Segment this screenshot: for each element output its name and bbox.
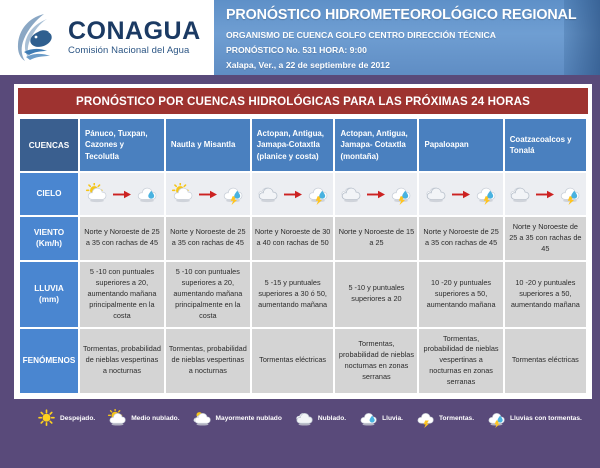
row-header-lluvia: LLUVIA(mm) [20,262,78,327]
organism-line: ORGANISMO DE CUENCA GOLFO CENTRO DIRECCI… [226,30,600,40]
legend-item: Lluvias con tormentas. [486,409,582,428]
column-header-basin-1: Pánuco, Tuxpan, Cazones y Tecolutla [80,119,164,171]
row-header-viento: VIENTO(Km/h) [20,217,78,260]
partly-sunny-icon [171,183,195,205]
data-cell-basin-4: Tormentas, probabilidad de nieblas noctu… [335,329,417,394]
corner-cell-cuencas: CUENCAS [20,119,78,171]
page-header: CONAGUA Comisión Nacional del Agua PRONÓ… [0,0,600,75]
legend-label: Medio nublado. [131,415,179,422]
sky-cell-basin-5 [419,173,502,215]
row-header-fenómenos: FENÓMENOS [20,329,78,394]
column-header-basin-2: Nautla y Misantla [166,119,250,171]
sky-cell-basin-3 [252,173,334,215]
data-cell-basin-6: 10 -20 y puntuales superiores a 50, aume… [505,262,586,327]
sky-cell-basin-1 [80,173,164,215]
rain-icon [135,183,159,205]
forecast-table: CUENCAS Pánuco, Tuxpan, Cazones y Tecolu… [18,117,588,395]
table-row: FENÓMENOSTormentas, probabilidad de nieb… [20,329,586,394]
table-row: CIELO [20,173,586,215]
band-title: PRONÓSTICO POR CUENCAS HIDROLÓGICAS PARA… [18,88,588,114]
data-cell-basin-2: Tormentas, probabilidad de nieblas vespe… [166,329,250,394]
conagua-logo: CONAGUA Comisión Nacional del Agua [0,0,214,75]
data-cell-basin-2: 5 -10 con puntuales superiores a 20, aum… [166,262,250,327]
transition-arrow-icon [112,190,132,199]
legend-label: Lluvias con tormentas. [510,415,582,422]
legend-item: Mayormente nublado [192,409,282,428]
legend-item: Nublado. [294,409,346,428]
sky-cell-basin-6 [505,173,586,215]
transition-arrow-icon [366,190,386,199]
table-row: LLUVIA(mm)5 -10 con puntuales superiores… [20,262,586,327]
cloudy-icon [508,183,532,205]
column-header-basin-4: Actopan, Antigua, Jamapa- Cotaxtla (mont… [335,119,417,171]
partly-sunny-icon [107,409,128,428]
storm-icon [221,183,245,205]
table-row: VIENTO(Km/h)Norte y Noroeste de 25 a 35 … [20,217,586,260]
storm-icon [486,409,507,428]
legend-label: Lluvia. [382,415,403,422]
legend-label: Tormentas. [439,415,474,422]
logo-wordmark: CONAGUA [68,19,201,44]
data-cell-basin-4: 5 -10 y puntuales superiores a 20 [335,262,417,327]
column-header-basin-3: Actopan, Antigua, Jamapa-Cotaxtla (plani… [252,119,334,171]
rain-icon [358,409,379,428]
data-cell-basin-1: Tormentas, probabilidad de nieblas vespe… [80,329,164,394]
conagua-emblem-icon [14,12,62,64]
cloudy-icon [424,183,448,205]
legend-label: Nublado. [318,415,346,422]
data-cell-basin-3: 5 -15 y puntuales superiores a 30 ó 50, … [252,262,334,327]
weather-legend: Despejado.Medio nublado.Mayormente nubla… [14,399,592,428]
forecast-number-line: PRONÓSTICO No. 531 HORA: 9:00 [226,45,600,55]
legend-label: Mayormente nublado [216,415,282,422]
legend-item: Medio nublado. [107,409,179,428]
place-date-line: Xalapa, Ver., a 22 de septiembre de 2012 [226,60,600,70]
data-cell-basin-5: 10 -20 y puntuales superiores a 50, aume… [419,262,502,327]
transition-arrow-icon [283,190,303,199]
data-cell-basin-3: Tormentas eléctricas [252,329,334,394]
logo-subtitle: Comisión Nacional del Agua [68,46,201,56]
data-cell-basin-1: Norte y Noroeste de 25 a 35 con rachas d… [80,217,164,260]
transition-arrow-icon [198,190,218,199]
transition-arrow-icon [535,190,555,199]
sky-cell-basin-4 [335,173,417,215]
data-cell-basin-5: Tormentas, probabilidad de nieblas vespe… [419,329,502,394]
storm-icon [306,183,330,205]
storm-icon [558,183,582,205]
data-cell-basin-6: Norte y Noroeste de 25 a 35 con rachas d… [505,217,586,260]
legend-item: Tormentas. [415,409,474,428]
table-header-row: CUENCAS Pánuco, Tuxpan, Cazones y Tecolu… [20,119,586,171]
data-cell-basin-6: Tormentas eléctricas [505,329,586,394]
partly-sunny-icon [85,183,109,205]
column-header-basin-5: Papaloapan [419,119,502,171]
legend-label: Despejado. [60,415,95,422]
legend-item: Lluvia. [358,409,403,428]
cloudy-icon [294,409,315,428]
data-cell-basin-5: Norte y Noroeste de 25 a 35 con rachas d… [419,217,502,260]
page-title: PRONÓSTICO HIDROMETEOROLÓGICO REGIONAL [226,7,600,23]
storm-icon [474,183,498,205]
row-header-cielo: CIELO [20,173,78,215]
data-cell-basin-1: 5 -10 con puntuales superiores a 20, aum… [80,262,164,327]
cloudy-icon [256,183,280,205]
table-container: PRONÓSTICO POR CUENCAS HIDROLÓGICAS PARA… [14,84,592,399]
sky-cell-basin-2 [166,173,250,215]
storm-icon [389,183,413,205]
transition-arrow-icon [451,190,471,199]
column-header-basin-6: Coatzacoalcos y Tonalá [505,119,586,171]
header-text-block: PRONÓSTICO HIDROMETEOROLÓGICO REGIONAL O… [214,0,600,75]
legend-item: Despejado. [36,409,95,428]
sun-icon [36,409,57,428]
thunder-icon [415,409,436,428]
cloudy-icon [339,183,363,205]
forecast-sheet: PRONÓSTICO POR CUENCAS HIDROLÓGICAS PARA… [0,75,600,428]
data-cell-basin-2: Norte y Noroeste de 25 a 35 con rachas d… [166,217,250,260]
data-cell-basin-4: Norte y Noroeste de 15 a 25 [335,217,417,260]
mostly-cloudy-icon [192,409,213,428]
data-cell-basin-3: Norte y Noroeste de 30 a 40 con rachas d… [252,217,334,260]
